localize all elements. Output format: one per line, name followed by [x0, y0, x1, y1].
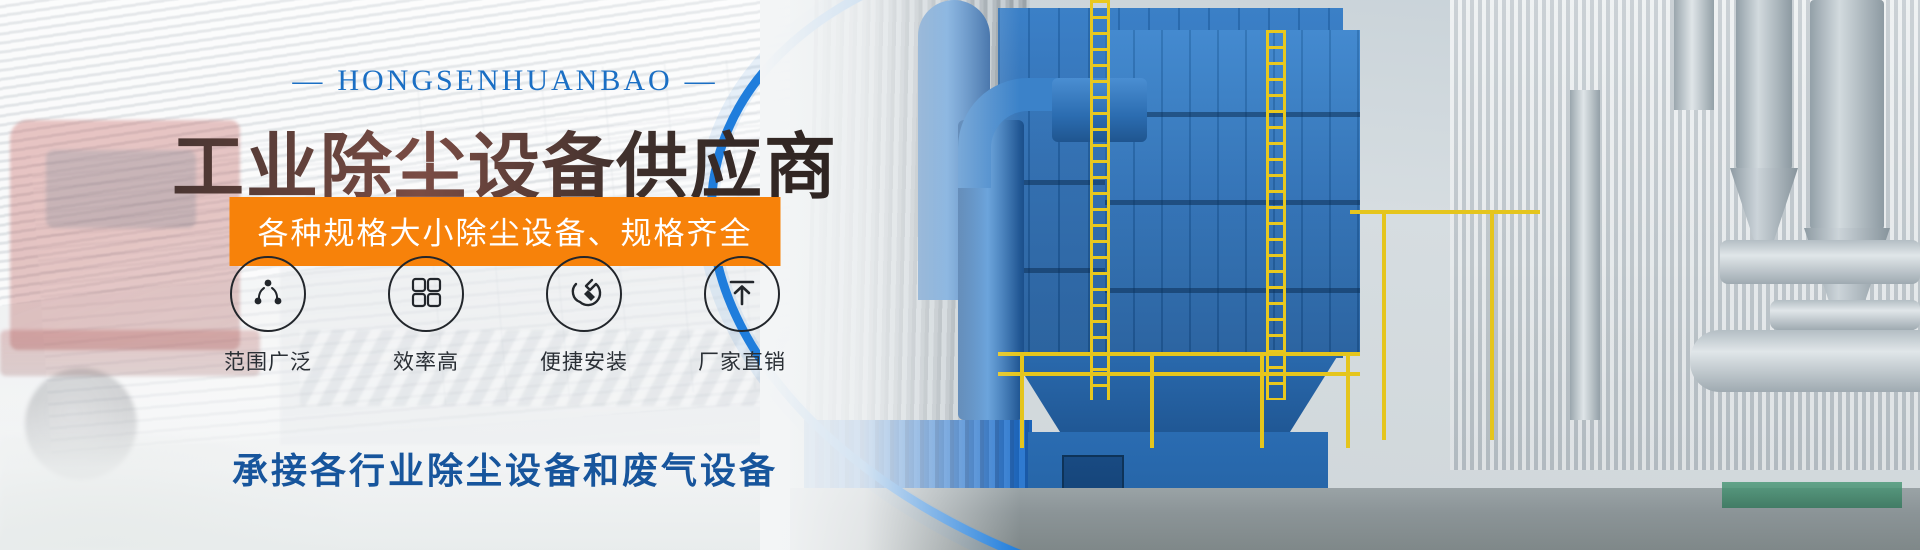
- handrail: [1350, 210, 1540, 214]
- feature-icon-circle: [230, 256, 306, 332]
- feature-icon-circle: [546, 256, 622, 332]
- brand-eyebrow: —HONGSENHUANBAO—: [0, 64, 1010, 98]
- handrail-post: [1346, 352, 1350, 448]
- horizontal-duct: [1770, 300, 1920, 330]
- feature-icon-circle: [388, 256, 464, 332]
- green-fence: [1722, 482, 1902, 508]
- feature-list: 范围广泛 效率高: [0, 256, 1010, 376]
- horizontal-duct: [1720, 240, 1920, 284]
- feature-label: 厂家直销: [698, 346, 786, 376]
- handrail-post: [1150, 352, 1154, 448]
- cyclone-separator: [1736, 0, 1792, 170]
- exhaust-stack: [1674, 0, 1714, 110]
- feature-item-factory-direct[interactable]: 厂家直销: [687, 256, 797, 376]
- handrail: [998, 372, 1360, 376]
- baghouse-seam: [1105, 288, 1360, 293]
- handrail-post: [1490, 210, 1494, 440]
- safety-ladder: [1266, 30, 1286, 400]
- feature-label: 效率高: [393, 346, 459, 376]
- large-round-duct: [1690, 330, 1920, 392]
- safety-ladder: [1090, 0, 1110, 400]
- brand-latin-name: HONGSENHUANBAO: [337, 64, 672, 97]
- cyclone-separator: [1810, 0, 1884, 230]
- tagline: 承接各行业除尘设备和废气设备: [0, 442, 1010, 494]
- banner-content: —HONGSENHUANBAO— 工业除尘设备供应商 各种规格大小除尘设备、规格…: [0, 0, 1010, 550]
- handrail-post: [1382, 210, 1386, 440]
- feature-item-wide-range[interactable]: 范围广泛: [213, 256, 323, 376]
- dash-right-icon: —: [673, 64, 730, 98]
- network-nodes-icon: [248, 272, 288, 317]
- upward-arrow-icon: [723, 273, 761, 316]
- handrail-post: [1260, 352, 1264, 448]
- feature-icon-circle: [704, 256, 780, 332]
- support-column: [1570, 90, 1600, 420]
- dash-left-icon: —: [280, 64, 337, 98]
- wrench-install-icon: [564, 272, 604, 317]
- feature-label: 范围广泛: [224, 346, 312, 376]
- hero-banner: —HONGSENHUANBAO— 工业除尘设备供应商 各种规格大小除尘设备、规格…: [0, 0, 1920, 550]
- four-squares-grid-icon: [407, 273, 445, 316]
- baghouse-seam: [1105, 200, 1360, 205]
- feature-label: 便捷安装: [540, 346, 628, 376]
- feature-item-high-efficiency[interactable]: 效率高: [371, 256, 481, 376]
- feature-item-easy-install[interactable]: 便捷安装: [529, 256, 639, 376]
- handrail: [998, 352, 1360, 356]
- handrail-post: [1020, 352, 1024, 448]
